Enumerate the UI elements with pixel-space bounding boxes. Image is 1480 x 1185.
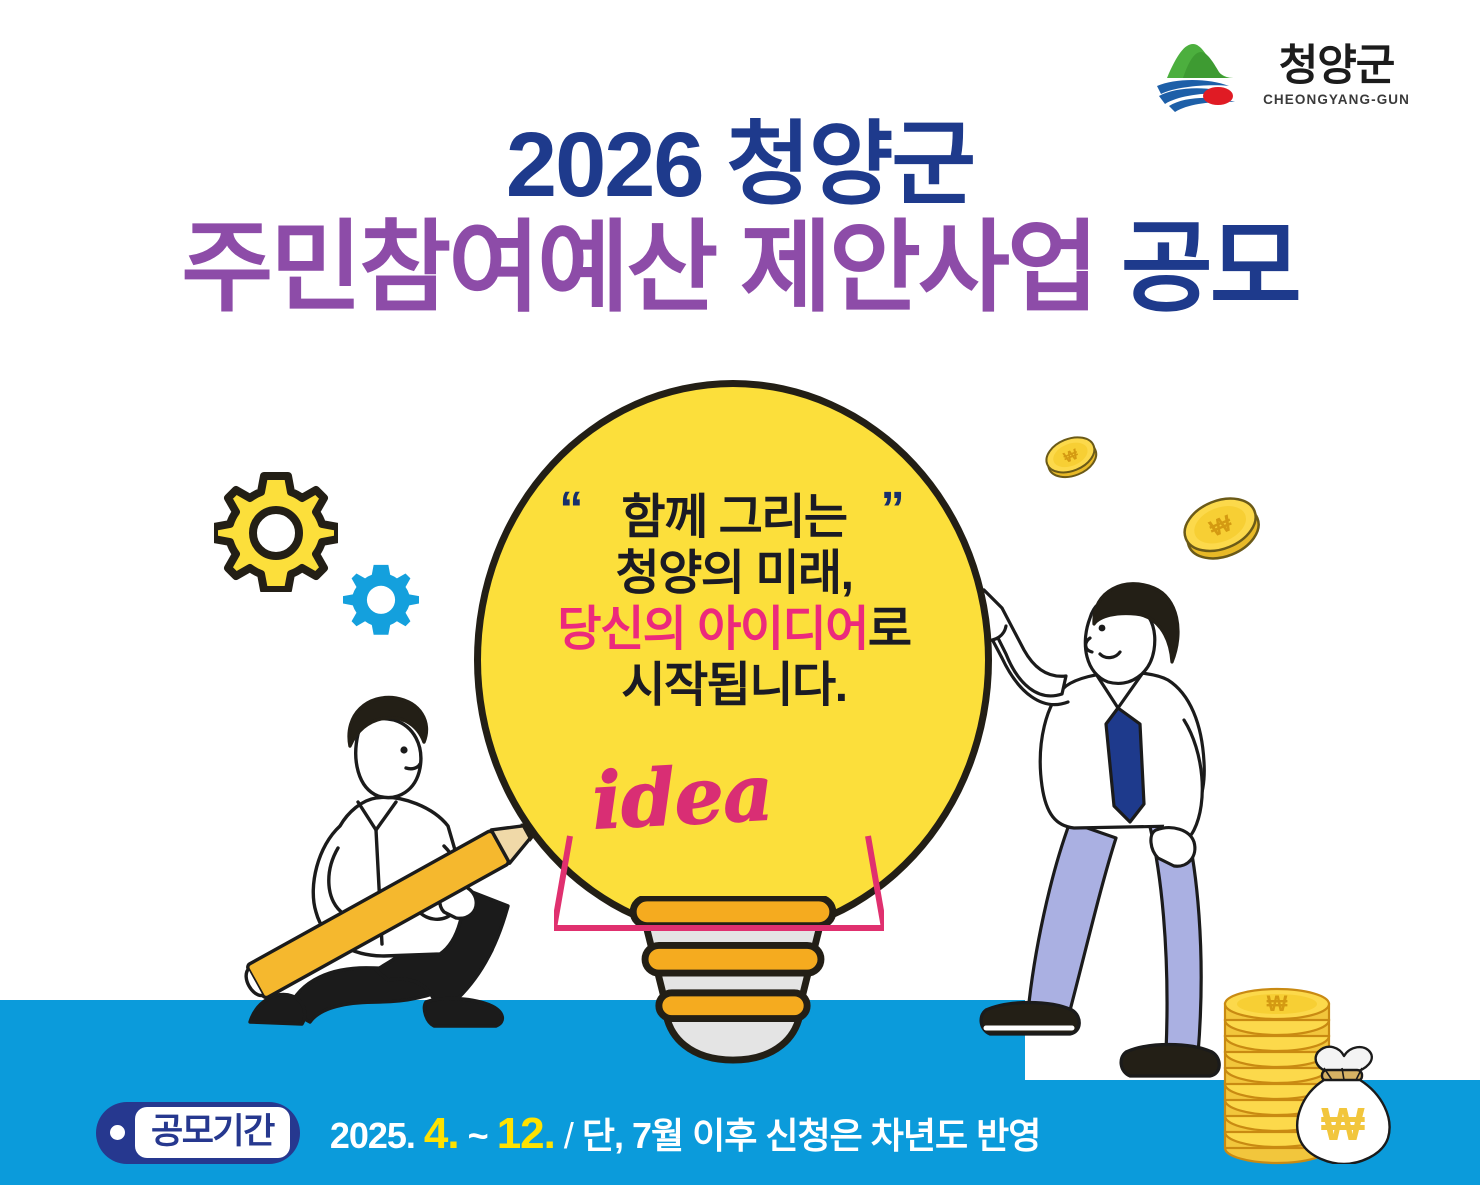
coin-icon-small: ₩ (1042, 428, 1104, 484)
title-line-2: 주민참여예산 제안사업 공모 (0, 217, 1480, 320)
bulb-slogan-line-1-row: “ 함께 그리는 ” (621, 490, 846, 546)
application-period-bar: 공모기간 2025. 4. ~ 12. / 단, 7월 이후 신청은 차년도 반… (0, 1080, 1480, 1185)
bulb-slogan-line-2: 청양의 미래, (524, 546, 944, 602)
period-badge: 공모기간 (96, 1102, 300, 1164)
period-tilde: ~ (468, 1115, 488, 1156)
cheongyang-gun-logo: 청양군 CHEONGYANG-GUN (1153, 34, 1410, 118)
period-text: 2025. 4. ~ 12. / 단, 7월 이후 신청은 차년도 반영 (330, 1107, 1041, 1159)
quote-close-icon: ” (881, 486, 905, 534)
period-year: 2025. (330, 1115, 415, 1156)
bulb-slogan-line-3-suffix: 로 (868, 603, 911, 656)
logo-name-korean: 청양군 (1279, 45, 1395, 88)
period-month-start: 4. (424, 1109, 459, 1158)
title-line-2-navy: 공모 (1121, 212, 1299, 324)
mountain-river-emblem-icon (1153, 34, 1249, 118)
idea-script-word: idea (590, 747, 775, 847)
period-month-end: 12. (497, 1109, 555, 1158)
bulb-slogan-highlight: 당신의 아이디어 (557, 603, 867, 656)
bulb-slogan-line-1: 함께 그리는 (621, 491, 846, 544)
lightbulb-illustration: idea “ 함께 그리는 ” 청양의 미래, 당신의 아이디어로 시작됩니다. (474, 380, 994, 1080)
person-pointing-up-illustration (950, 576, 1250, 1096)
badge-dot-icon (110, 1125, 125, 1140)
poster-title: 2026 청양군 주민참여예산 제안사업 공모 (0, 118, 1480, 320)
poster-canvas: 청양군 CHEONGYANG-GUN 2026 청양군 주민참여예산 제안사업 … (0, 0, 1480, 1185)
coin-won-symbol: ₩ (1267, 991, 1288, 1016)
quote-open-icon: “ (559, 486, 583, 534)
period-separator: / (564, 1115, 573, 1156)
logo-name-english: CHEONGYANG-GUN (1263, 93, 1410, 107)
period-note: 단, 7월 이후 신청은 차년도 반영 (582, 1115, 1040, 1156)
title-line-1: 2026 청양군 (0, 118, 1480, 213)
gear-icon-small (343, 560, 419, 636)
title-line-2-purple: 주민참여예산 제안사업 (181, 212, 1096, 324)
bulb-slogan-line-4: 시작됩니다. (524, 658, 944, 714)
bulb-slogan-line-3: 당신의 아이디어로 (524, 602, 944, 658)
gear-icon-large (214, 468, 338, 592)
bulb-slogan: “ 함께 그리는 ” 청양의 미래, 당신의 아이디어로 시작됩니다. (524, 490, 944, 715)
coin-icon-large: ₩ (1176, 482, 1268, 566)
period-badge-label: 공모기간 (135, 1107, 290, 1158)
